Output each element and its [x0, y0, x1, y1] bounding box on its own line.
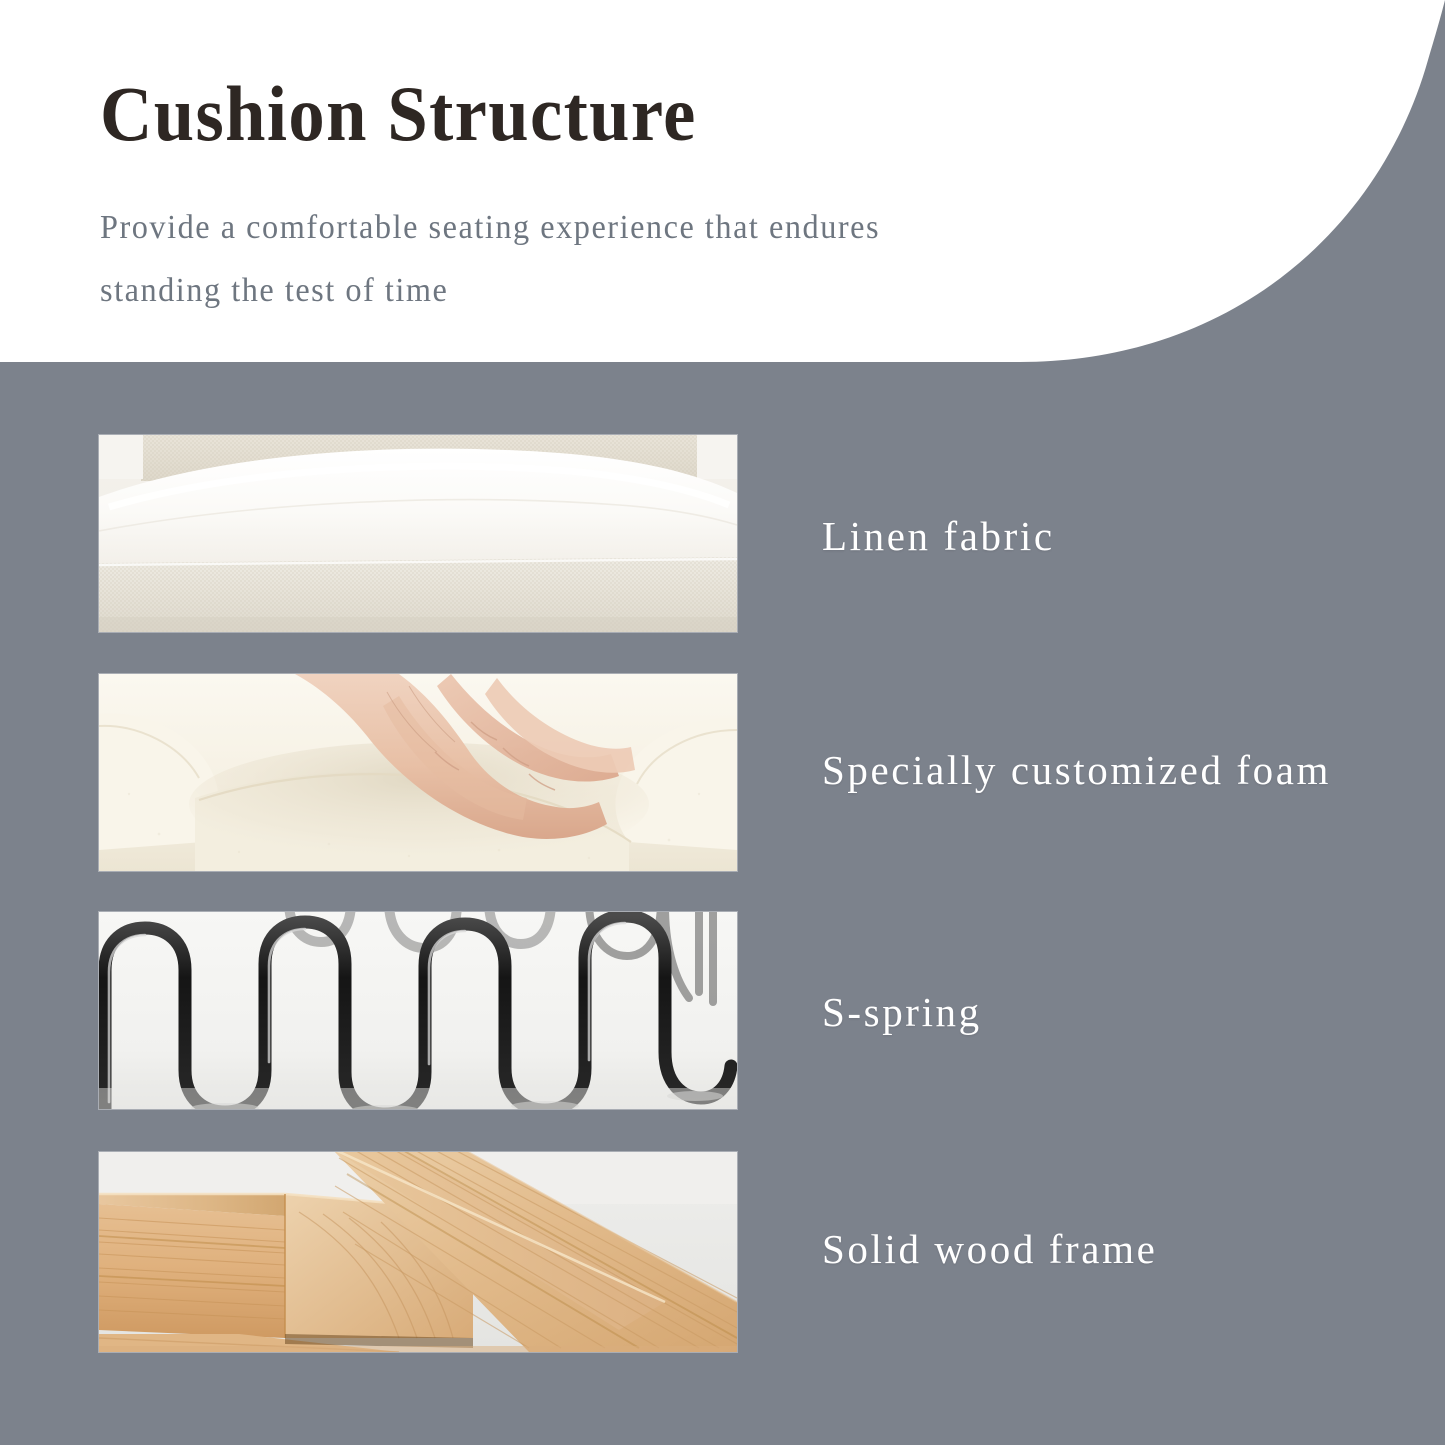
page-subtitle-line-2: standing the test of time [100, 259, 1069, 322]
feature-label-solid-wood-frame: Solid wood frame [822, 1225, 1157, 1273]
feature-label-linen-fabric: Linen fabric [822, 512, 1055, 560]
feature-row-customized-foam: Specially customized foam [0, 674, 1445, 871]
s-spring-serpentine-photo [99, 912, 737, 1109]
solid-wood-frame-photo [99, 1152, 737, 1352]
page-title: Cushion Structure [100, 68, 697, 160]
feature-row-s-spring: S-spring [0, 912, 1445, 1109]
page-subtitle: Provide a comfortable seating experience… [100, 196, 1069, 322]
foam-hand-press-photo [99, 674, 737, 871]
feature-row-solid-wood-frame: Solid wood frame [0, 1152, 1445, 1352]
feature-label-customized-foam: Specially customized foam [822, 746, 1331, 794]
feature-label-s-spring: S-spring [822, 988, 982, 1036]
linen-fabric-cushion-photo [99, 435, 737, 632]
feature-row-linen-fabric: Linen fabric [0, 435, 1445, 632]
infographic-page: Cushion Structure Provide a comfortable … [0, 0, 1445, 1445]
page-subtitle-line-1: Provide a comfortable seating experience… [100, 196, 1069, 259]
